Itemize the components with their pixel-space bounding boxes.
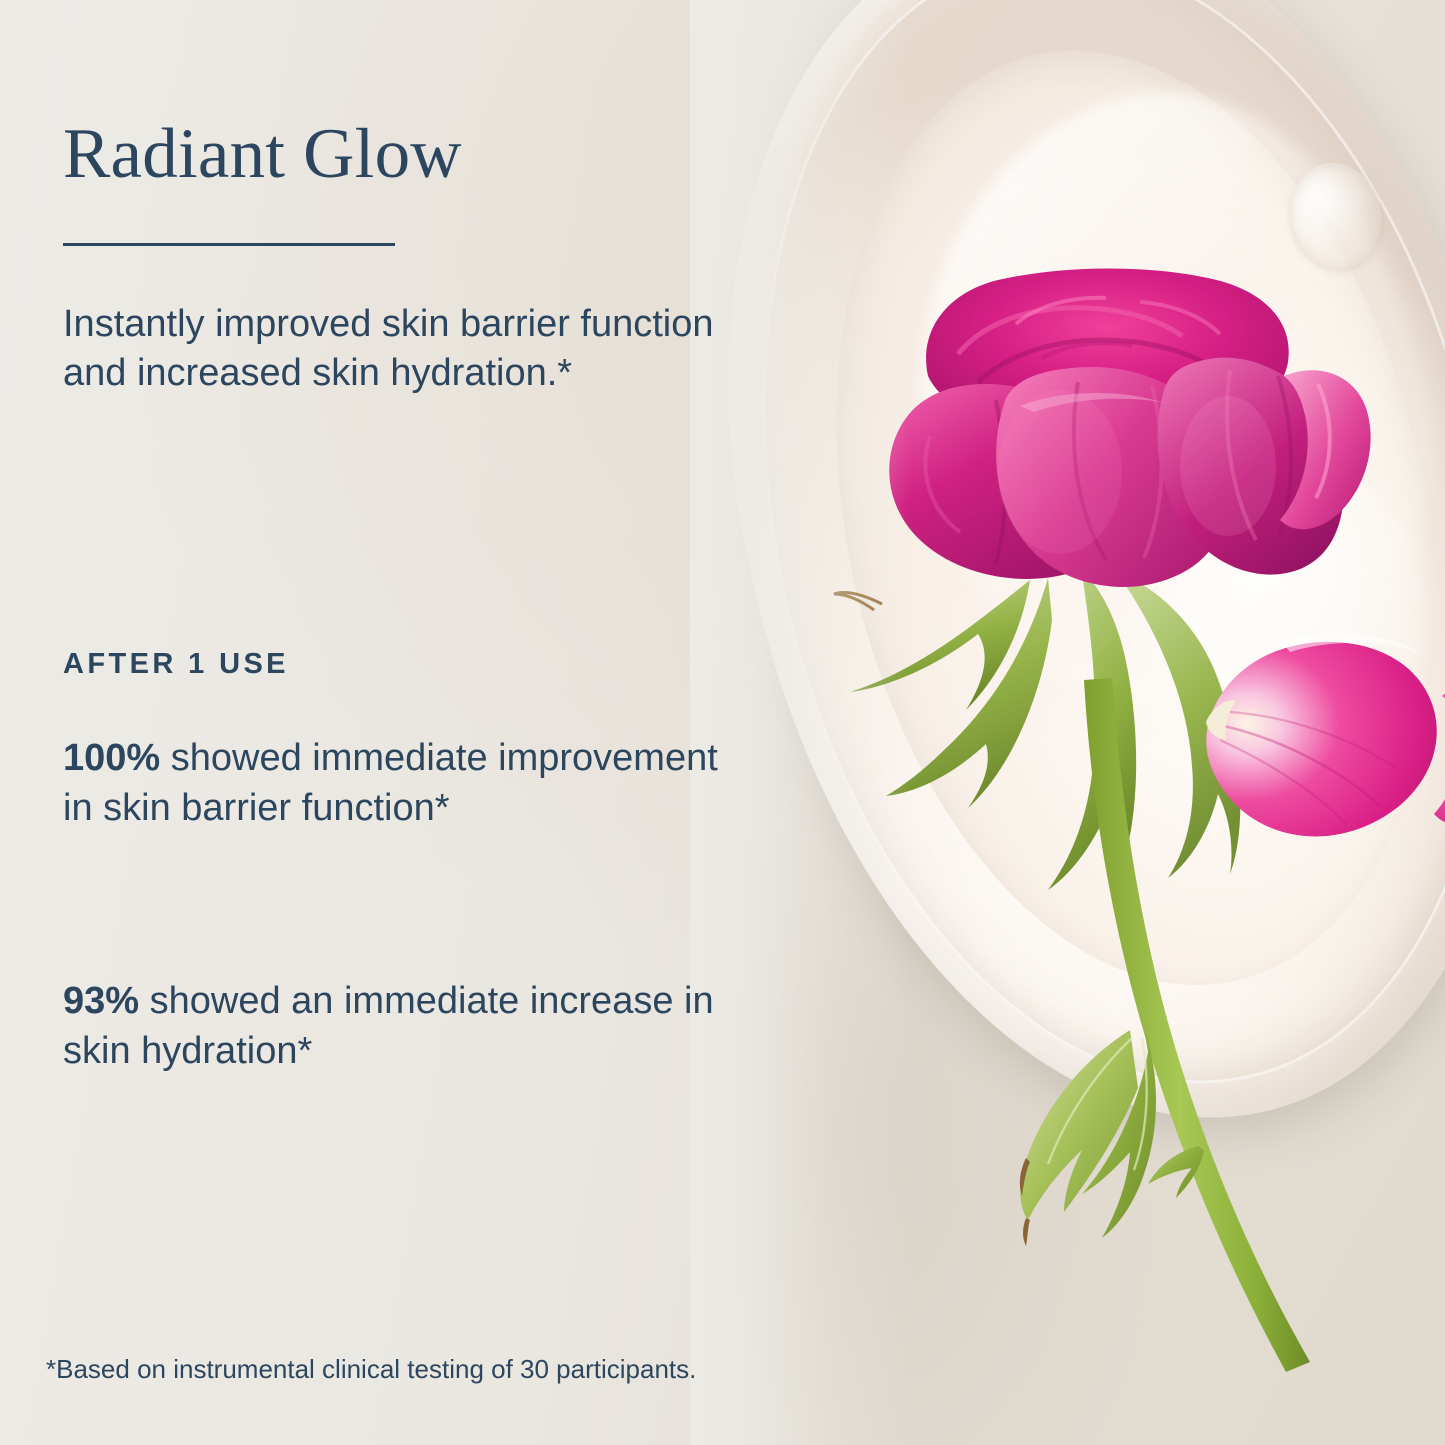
page-title: Radiant Glow [63,119,462,190]
stat-text-1: showed immediate improvement in skin bar… [63,737,718,829]
stat-block-2: 93% showed an immediate increase in skin… [63,976,743,1076]
marketing-card: Radiant Glow Instantly improved skin bar… [0,0,1445,1445]
stat-value-1: 100% [63,737,160,779]
lede-paragraph: Instantly improved skin barrier function… [63,300,763,399]
stat-text-2: showed an immediate increase in skin hyd… [63,980,714,1072]
rose-bloom [810,258,1370,608]
stat-value-2: 93% [63,980,139,1022]
product-photo [690,0,1445,1445]
stat-block-1: 100% showed immediate improvement in ski… [63,733,743,833]
results-eyebrow: AFTER 1 USE [63,648,289,681]
loose-rose-petals [1190,600,1445,900]
text-column: Radiant Glow Instantly improved skin bar… [0,0,760,1445]
footnote: *Based on instrumental clinical testing … [46,1353,696,1387]
title-divider [63,243,395,246]
